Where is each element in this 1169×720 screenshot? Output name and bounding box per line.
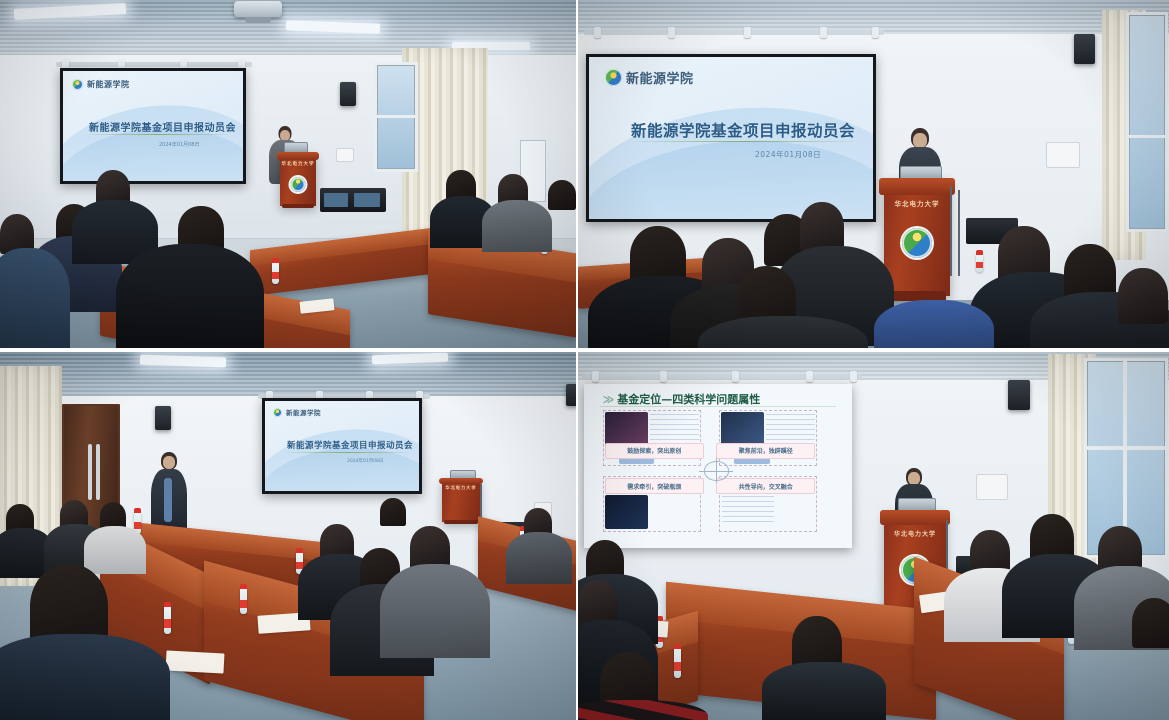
water-bottle (164, 606, 171, 634)
attendee-head (1118, 268, 1168, 324)
attendee-shoulders (380, 564, 490, 658)
photo-collage: 新能源学院 新能源学院基金项目申报动员会 2024年01月08日 华北电力大学 (0, 0, 1169, 720)
meeting-room-scene-2: 新能源学院 新能源学院基金项目申报动员会 2024年01月08日 华北电力大学 (578, 0, 1169, 348)
university-emblem-icon (291, 177, 306, 192)
door-handle[interactable] (96, 444, 100, 500)
projection-screen: 新能源学院 新能源学院基金项目申报动员会 2024年01月08日 (262, 398, 422, 494)
compass-icon (704, 461, 730, 480)
podium-university-name: 华北电力大学 (442, 485, 480, 491)
handout-papers (166, 650, 225, 673)
slide-logo-text: 新能源学院 (87, 79, 130, 90)
quadrant-label-band: 共性导向，交叉融合 (716, 478, 815, 494)
slide-logo: 新能源学院 (72, 79, 130, 90)
content-slide-title-text: 基金定位—四类科学问题属性 (617, 393, 760, 406)
slide-surface: ≫基金定位—四类科学问题属性 (584, 384, 852, 548)
attendee-shoulders (874, 300, 994, 352)
slide-date: 2024年01月08日 (159, 141, 199, 148)
side-window (374, 62, 418, 172)
quadrant-image (605, 412, 648, 447)
attendee-shoulders (506, 532, 572, 584)
quadrant-image (605, 495, 648, 530)
collage-panel-top-left[interactable]: 新能源学院 新能源学院基金项目申报动员会 2024年01月08日 华北电力大学 (0, 0, 578, 352)
wall-plate (976, 474, 1008, 500)
slide-title: 新能源学院基金项目申报动员会 (89, 119, 236, 134)
quadrant-note-lines (650, 414, 699, 445)
chevron-icon: ≫ (603, 393, 615, 406)
wall-speaker (155, 406, 171, 430)
water-bottle (272, 262, 279, 284)
slide-logo-text: 新能源学院 (286, 407, 321, 417)
attendee-head (1132, 598, 1169, 648)
content-slide-title: ≫基金定位—四类科学问题属性 (603, 391, 761, 407)
collage-panel-top-right[interactable]: 新能源学院 新能源学院基金项目申报动员会 2024年01月08日 华北电力大学 (578, 0, 1169, 352)
meeting-room-scene-3: 新能源学院 新能源学院基金项目申报动员会 2024年01月08日 华北电力大学 (0, 352, 576, 720)
wall-speaker (1008, 380, 1030, 410)
presenter-face (913, 133, 927, 148)
attendee-shoulders (116, 244, 264, 352)
wall-plate (336, 148, 354, 162)
college-logo-icon (605, 69, 622, 86)
podium-desktop (439, 478, 482, 484)
attendee-shoulders (0, 248, 70, 348)
slide-divider (287, 452, 409, 453)
meeting-room-scene-1: 新能源学院 新能源学院基金项目申报动员会 2024年01月08日 华北电力大学 (0, 0, 576, 348)
slide-title: 新能源学院基金项目申报动员会 (287, 439, 413, 451)
wall-speaker (566, 384, 578, 406)
slide-logo-text: 新能源学院 (626, 68, 694, 87)
college-logo-icon (72, 79, 83, 90)
quadrant-label-band: 鼓励探索，突出原创 (605, 443, 704, 459)
water-bottle (976, 254, 983, 272)
quadrant-note-lines (722, 496, 773, 526)
quadrant-label-band: 聚焦前沿，独辟蹊径 (716, 443, 815, 459)
attendee-shoulders (84, 526, 146, 574)
projection-screen: ≫基金定位—四类科学问题属性 (584, 384, 852, 548)
podium: 华北电力大学 (884, 178, 950, 296)
slide-surface: 新能源学院 新能源学院基金项目申报动员会 2024年01月08日 (63, 71, 243, 181)
content-slide-divider (600, 406, 836, 407)
attendee-head (548, 180, 576, 210)
university-emblem-icon (902, 228, 932, 258)
podium-desktop (879, 178, 954, 195)
attendee-shoulders (0, 634, 170, 720)
screen-rail (582, 374, 862, 379)
slide-surface: 新能源学院 新能源学院基金项目申报动员会 2024年01月08日 (265, 401, 419, 491)
college-logo-icon (273, 408, 282, 417)
slide-divider (633, 141, 853, 142)
podium-university-name: 华北电力大学 (884, 198, 950, 208)
wall-speaker (1074, 34, 1095, 64)
ceiling-projector (234, 1, 282, 17)
window-mullion (1129, 135, 1165, 138)
screen-rail (584, 30, 884, 35)
slide-date: 2024年01月08日 (347, 458, 383, 464)
quadrant-label: 鼓励探索，突出原创 (606, 444, 703, 458)
quadrant-note-lines (766, 414, 815, 445)
water-bottle (240, 588, 247, 614)
four-quadrant-diagram: 鼓励探索，突出原创 聚焦前沿，独辟蹊径 需求牵引，突破瓶颈 共性导向，交叉融合 (603, 410, 817, 531)
attendee-head (380, 498, 406, 526)
podium-university-name: 华北电力大学 (280, 161, 316, 167)
presenter-face (163, 456, 175, 469)
quadrant-label: 需求牵引，突破瓶颈 (606, 479, 703, 493)
slide-surface: 新能源学院 新能源学院基金项目申报动员会 2024年01月08日 (589, 57, 873, 219)
water-bottle (674, 648, 681, 678)
av-equipment-rack (320, 188, 386, 212)
projection-screen: 新能源学院 新能源学院基金项目申报动员会 2024年01月08日 (60, 68, 246, 184)
slide-logo: 新能源学院 (273, 407, 321, 417)
meeting-room-scene-4: ≫基金定位—四类科学问题属性 (578, 352, 1169, 720)
window-mullion (377, 115, 415, 118)
quadrant-image (721, 412, 764, 447)
attendee-head (800, 202, 844, 252)
wall-speaker (340, 82, 356, 106)
screen-rail (56, 62, 252, 67)
podium-desktop (880, 510, 951, 525)
slide-date: 2024年01月08日 (755, 149, 821, 160)
door-handle[interactable] (88, 444, 92, 500)
wall-plate (1046, 142, 1080, 168)
slide-title: 新能源学院基金项目申报动员会 (631, 119, 855, 141)
collage-panel-bottom-right[interactable]: ≫基金定位—四类科学问题属性 (578, 352, 1169, 720)
podium-base (282, 204, 314, 208)
slide-logo: 新能源学院 (605, 68, 694, 87)
podium-base (444, 520, 477, 524)
podium-university-name: 华北电力大学 (884, 529, 946, 538)
presenter-shirt (164, 478, 172, 522)
quadrant-label-band: 需求牵引，突破瓶颈 (605, 478, 704, 494)
podium: 华北电力大学 (280, 152, 316, 206)
collage-panel-bottom-left[interactable]: 新能源学院 新能源学院基金项目申报动员会 2024年01月08日 华北电力大学 (0, 352, 578, 720)
side-window (1126, 12, 1168, 232)
slide-divider (89, 134, 229, 135)
quadrant-label: 聚焦前沿，独辟蹊径 (717, 444, 814, 458)
projection-screen: 新能源学院 新能源学院基金项目申报动员会 2024年01月08日 (586, 54, 876, 222)
podium-desktop (277, 152, 318, 160)
attendee-shoulders (762, 662, 886, 720)
attendee-shoulders (482, 200, 552, 252)
quadrant-label: 共性导向，交叉融合 (717, 479, 814, 493)
podium: 华北电力大学 (442, 478, 480, 522)
